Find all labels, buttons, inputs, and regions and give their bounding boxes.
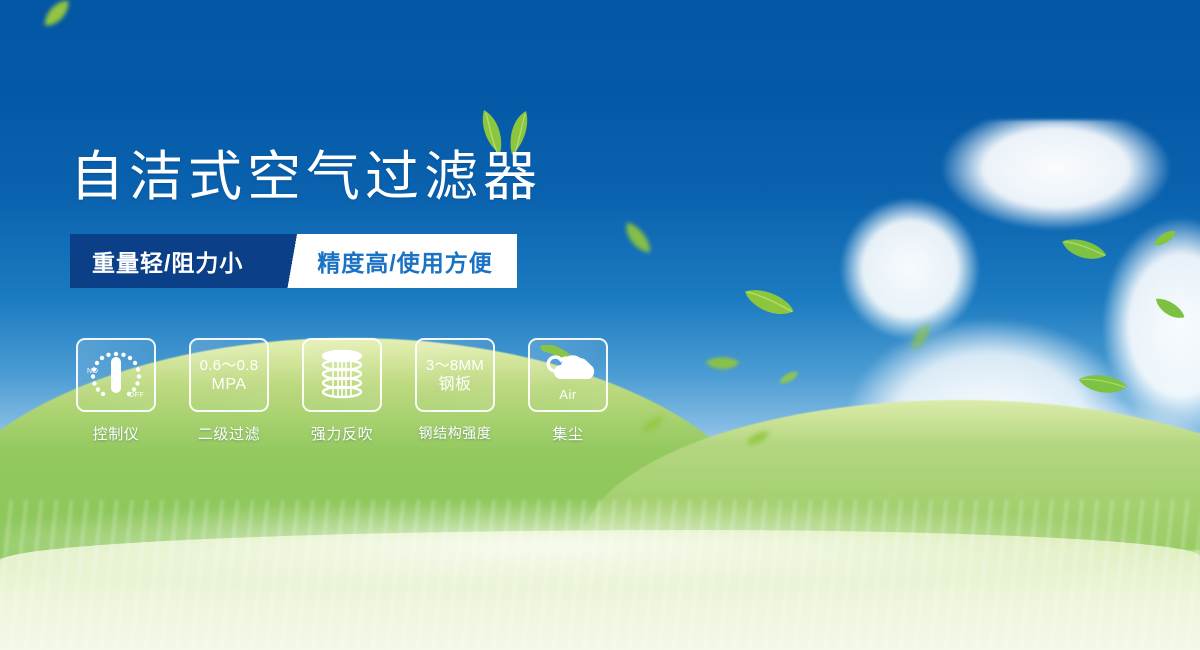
- feature-item-dust[interactable]: Air 集尘: [526, 338, 610, 444]
- feature-label: 集尘: [552, 423, 583, 444]
- feature-item-control[interactable]: NO OFF 控制仪: [74, 338, 158, 444]
- page-title: 自洁式空气过滤器: [70, 146, 542, 208]
- leaf-icon: [740, 276, 797, 329]
- pressure-value: 0.6〜0.8: [200, 357, 259, 375]
- air-label: Air: [559, 385, 576, 404]
- leaf-icon: [621, 217, 653, 260]
- steel-material: 钢板: [438, 375, 471, 394]
- leaf-icon: [777, 370, 801, 386]
- air-cloud-icon: Air: [528, 338, 608, 412]
- subtitle-left: 重量轻/阻力小: [70, 234, 277, 288]
- feature-list: NO OFF 控制仪 0.6〜0.8 MPA 二级过滤: [74, 338, 610, 444]
- feature-label: 控制仪: [93, 423, 140, 444]
- product-banner: 自洁式空气过滤器 重量轻/阻力小 精度高/使用方便: [0, 0, 1200, 650]
- feature-item-steel[interactable]: 3〜8MM 钢板 钢结构强度: [413, 338, 497, 444]
- feature-item-blowback[interactable]: 强力反吹: [300, 338, 384, 444]
- pressure-unit: MPA: [212, 375, 247, 394]
- dial-max-label: OFF: [129, 392, 144, 399]
- steel-thickness: 3〜8MM: [426, 357, 484, 375]
- feature-item-filtration[interactable]: 0.6〜0.8 MPA 二级过滤: [187, 338, 271, 444]
- grass-ground: [0, 460, 1200, 650]
- dial-min-label: NO: [87, 368, 98, 375]
- field-highlight: [0, 500, 1200, 590]
- feature-label: 二级过滤: [198, 423, 260, 444]
- subtitle-bar: 重量轻/阻力小 精度高/使用方便: [70, 234, 517, 288]
- leaf-icon: [37, 0, 76, 30]
- leaf-icon: [703, 350, 741, 379]
- pressure-text-icon: 0.6〜0.8 MPA: [189, 338, 269, 412]
- steel-plate-text-icon: 3〜8MM 钢板: [415, 338, 495, 412]
- filter-cartridge-icon: [302, 338, 382, 412]
- subtitle-right: 精度高/使用方便: [311, 234, 516, 288]
- feature-label: 强力反吹: [311, 423, 373, 444]
- control-dial-icon: NO OFF: [76, 338, 156, 412]
- subtitle-divider: [277, 234, 311, 288]
- feature-label: 钢结构强度: [419, 423, 492, 443]
